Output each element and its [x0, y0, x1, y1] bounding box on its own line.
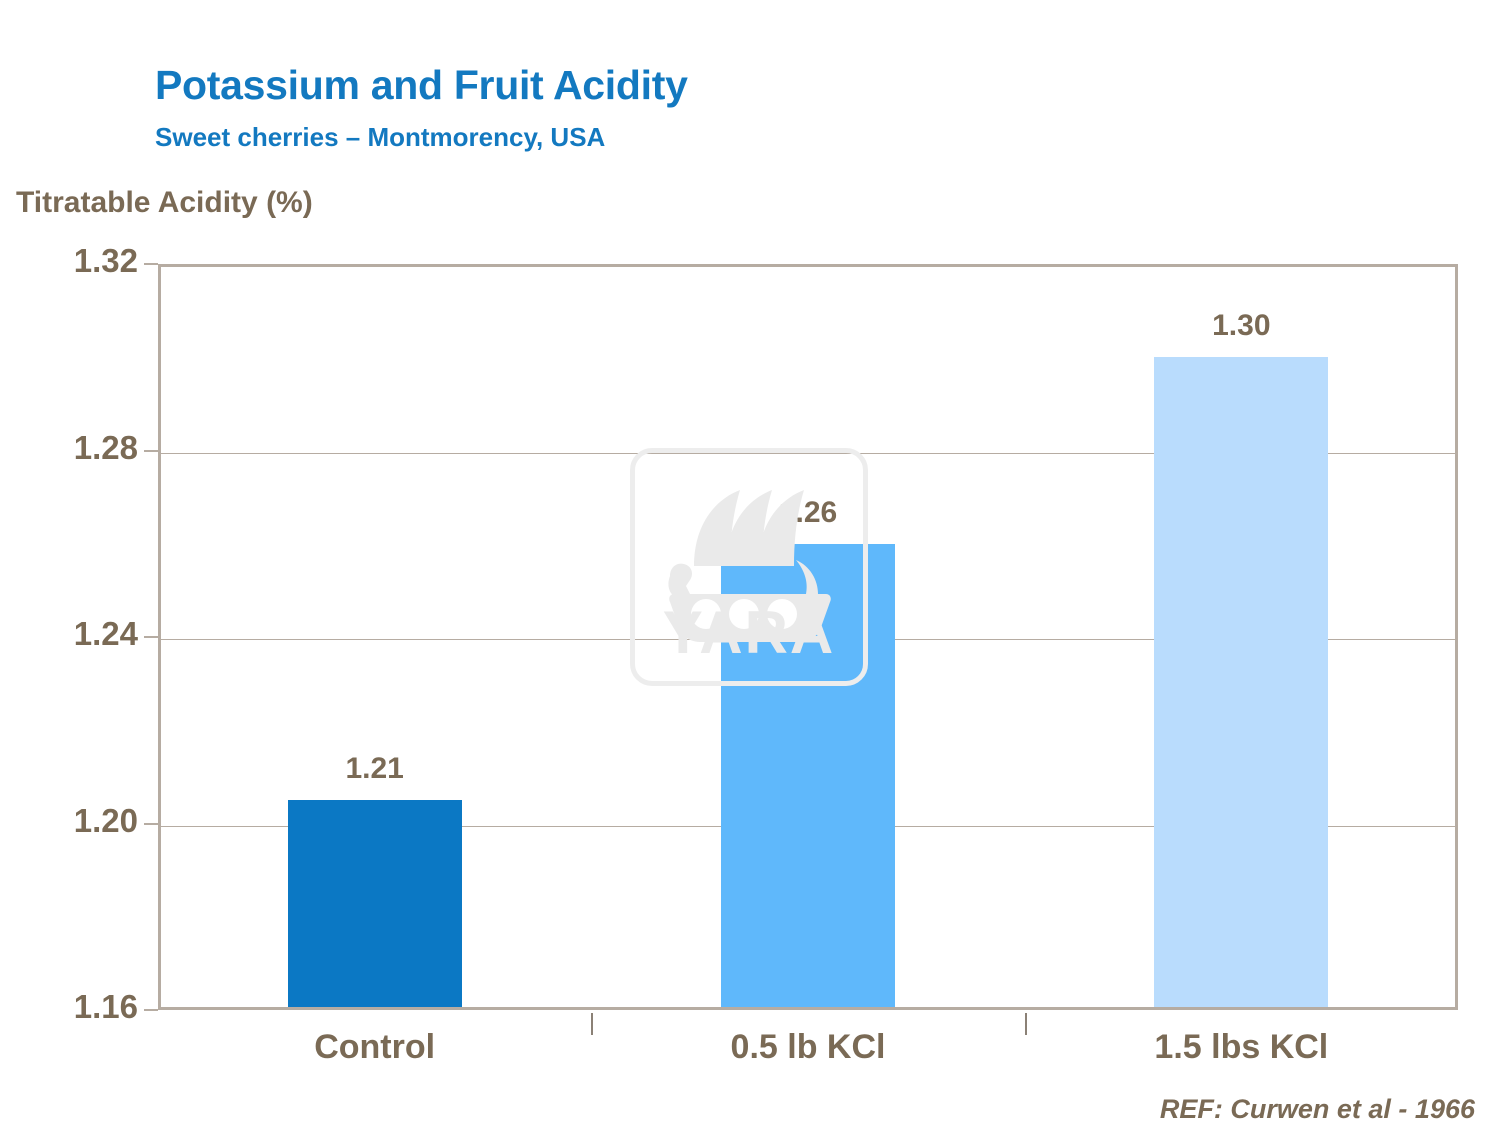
chart-subtitle: Sweet cherries – Montmorency, USA — [155, 122, 605, 153]
y-tick-mark — [144, 823, 158, 825]
y-axis-title: Titratable Acidity (%) — [16, 186, 313, 220]
x-axis-category-label: 0.5 lb KCl — [608, 1028, 1008, 1067]
y-tick-mark — [144, 450, 158, 452]
bar[interactable] — [721, 544, 895, 1007]
y-tick-label: 1.20 — [8, 802, 138, 840]
bar-value-label: 1.30 — [1151, 309, 1331, 343]
reference-note: REF: Curwen et al - 1966 — [1160, 1094, 1475, 1125]
x-axis-separator-tick — [1025, 1013, 1027, 1035]
y-tick-mark — [144, 636, 158, 638]
y-tick-label: 1.28 — [8, 429, 138, 467]
y-tick-label: 1.32 — [8, 242, 138, 280]
bar-value-label: 1.21 — [285, 752, 465, 786]
y-tick-mark — [144, 1009, 158, 1011]
bar[interactable] — [288, 800, 462, 1007]
chart-title: Potassium and Fruit Acidity — [155, 62, 688, 109]
y-tick-mark — [144, 263, 158, 265]
x-axis-category-label: 1.5 lbs KCl — [1041, 1028, 1441, 1067]
x-axis-category-label: Control — [175, 1028, 575, 1067]
bar-value-label: 1.26 — [718, 496, 898, 530]
x-axis-separator-tick — [591, 1013, 593, 1035]
bar[interactable] — [1154, 357, 1328, 1007]
y-tick-label: 1.24 — [8, 615, 138, 653]
y-tick-label: 1.16 — [8, 988, 138, 1026]
